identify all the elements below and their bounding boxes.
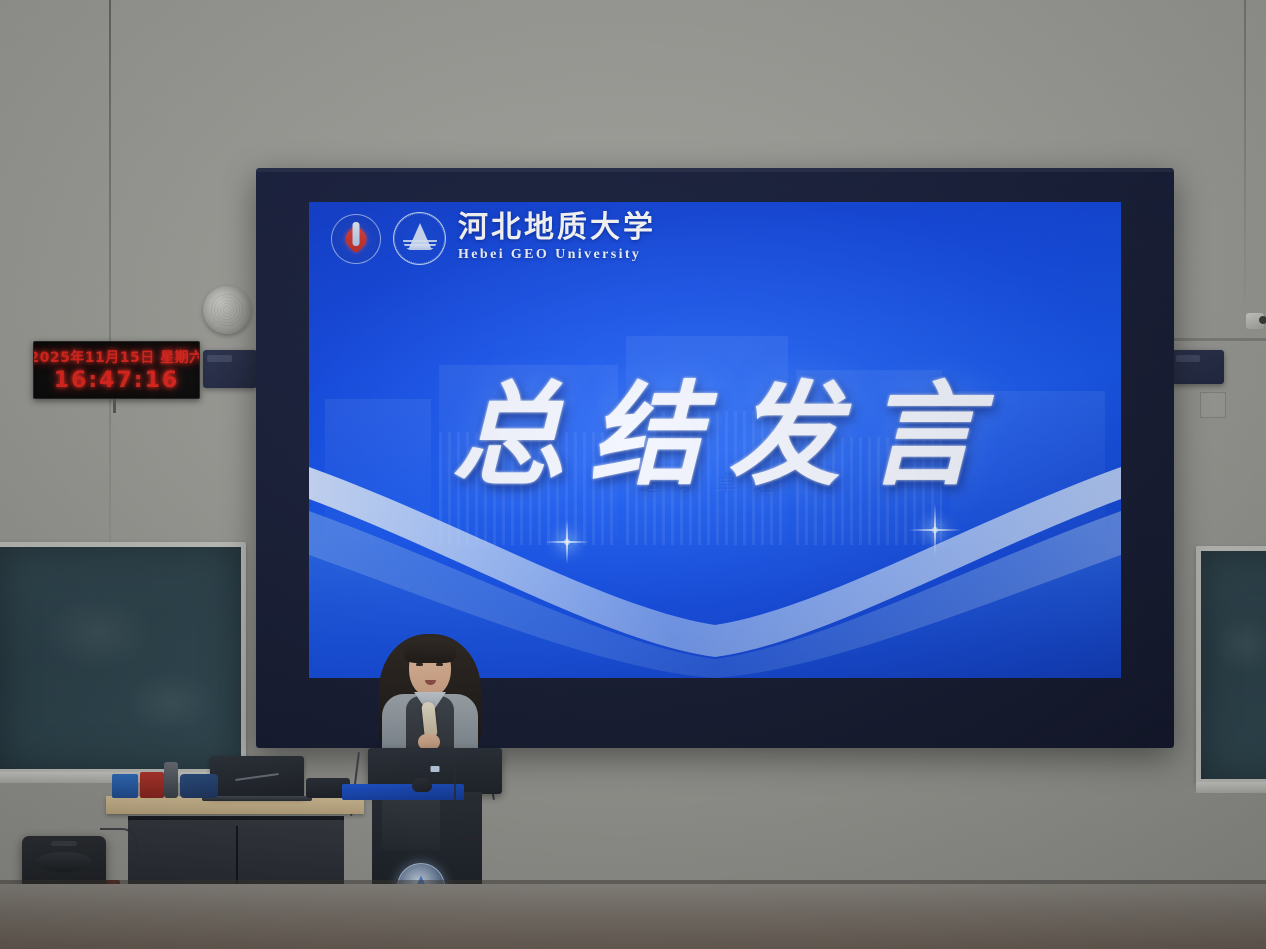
shijiazhuang-emblem-icon	[331, 214, 381, 264]
chalk-smudge	[1212, 615, 1266, 674]
university-name-en: Hebei GEO University	[458, 245, 656, 265]
lectern-control-panel[interactable]	[382, 798, 440, 850]
clock-date: 2025年11月15日 星期六	[33, 347, 200, 367]
chalkboard-right	[1196, 546, 1266, 784]
chalkboard-left	[0, 542, 246, 774]
mouse-icon[interactable]	[412, 778, 432, 792]
university-name-cn: 河北地质大学	[458, 212, 656, 244]
red-box	[140, 772, 164, 798]
wall-speaker-left	[203, 350, 257, 388]
wall-plate	[1200, 392, 1226, 418]
laptop-icon[interactable]	[210, 756, 304, 798]
mouse-pad	[342, 784, 464, 800]
chalk-smudge	[125, 671, 217, 733]
wall-rail	[1174, 338, 1266, 341]
hebei-geo-university-seal-icon	[393, 212, 446, 265]
blue-bag	[180, 774, 218, 798]
presenter-eye	[416, 663, 423, 666]
wall-speaker-right	[1172, 350, 1224, 384]
wall-seam-left	[109, 0, 111, 560]
blue-box	[112, 774, 138, 798]
lecture-hall-scene: 2025年11月15日 星期六 16:47:16 追求卓越	[0, 0, 1266, 949]
round-ceiling-speaker-icon	[203, 286, 251, 334]
presentation-slide: 追求卓越	[309, 202, 1121, 678]
thermos-bottle	[164, 762, 178, 798]
speaker-handle	[51, 841, 77, 846]
presenter-eye	[436, 663, 443, 666]
clock-time: 16:47:16	[54, 368, 179, 393]
cable	[454, 766, 482, 840]
laptop-base	[202, 796, 312, 801]
slide-header: 河北地质大学 Hebei GEO University	[331, 212, 656, 265]
floor	[0, 884, 1266, 949]
clock-mount-bracket	[113, 399, 116, 413]
wall-camera-icon	[1246, 313, 1264, 329]
slide-title: 总结发言	[309, 345, 1121, 507]
led-wall-clock: 2025年11月15日 星期六 16:47:16	[33, 341, 200, 399]
university-wordmark: 河北地质大学 Hebei GEO University	[458, 212, 656, 264]
wall-seam-right	[1244, 0, 1246, 300]
chalk-smudge	[43, 596, 154, 671]
